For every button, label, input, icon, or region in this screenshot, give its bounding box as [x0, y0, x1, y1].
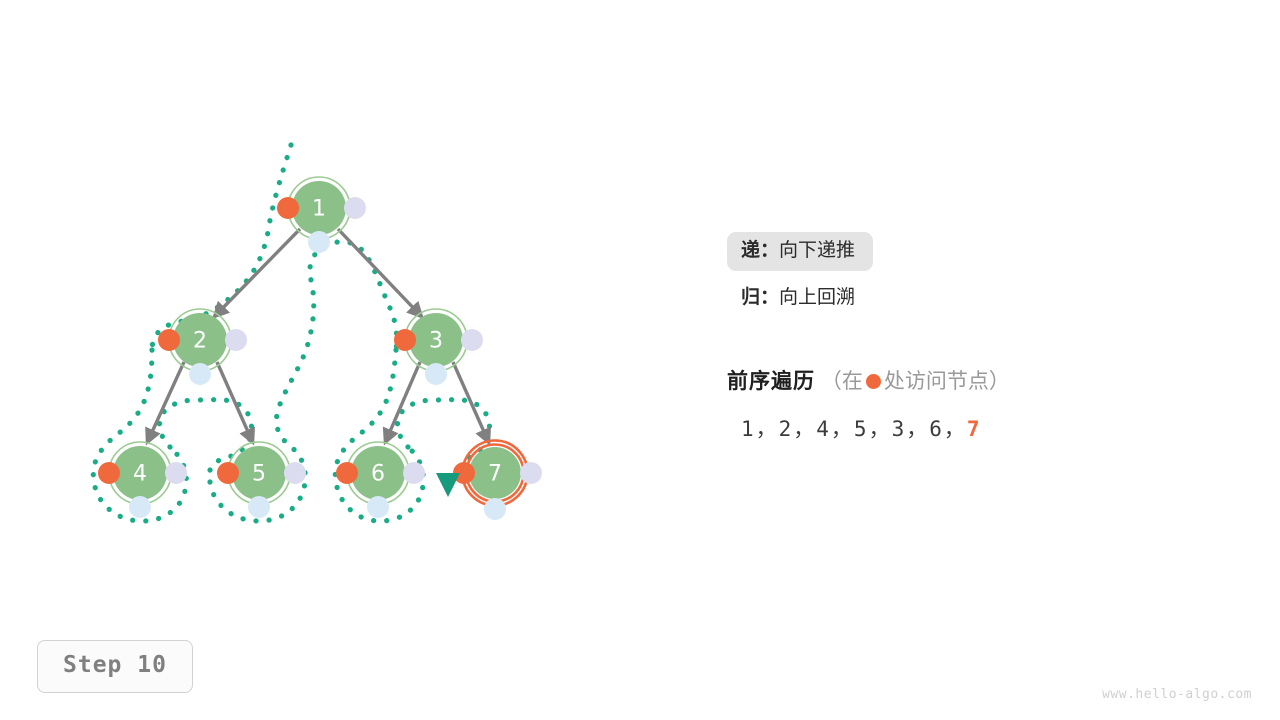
postorder-dot	[367, 496, 389, 518]
node-value: 6	[371, 462, 385, 487]
inorder-dot	[225, 329, 247, 351]
current-position-pointer-icon	[436, 473, 460, 497]
traversal-note-suffix: 处访问节点）	[884, 370, 1010, 393]
inorder-dot	[344, 197, 366, 219]
node-value: 5	[252, 462, 266, 487]
edge-2-4	[147, 362, 184, 443]
node-value: 1	[312, 197, 326, 222]
tree-node-3[interactable]: 3	[394, 309, 483, 385]
inorder-dot	[403, 462, 425, 484]
inorder-dot	[284, 462, 306, 484]
node-value: 3	[429, 329, 443, 354]
preorder-dot	[98, 462, 120, 484]
tree-node-2[interactable]: 2	[158, 309, 247, 385]
preorder-dot	[336, 462, 358, 484]
edge-1-3	[338, 229, 422, 317]
legend-recurse-key: 递：	[741, 240, 779, 261]
legend-row-recurse: 递：向下递推	[727, 232, 1227, 271]
traversal-sequence: 1，2，4，5，3，6，7	[741, 413, 982, 443]
postorder-dot	[129, 496, 151, 518]
path-root-entry	[152, 145, 291, 350]
node-value: 7	[488, 462, 502, 487]
edge-3-7	[453, 362, 489, 443]
postorder-dot	[189, 363, 211, 385]
traversal-title-row: 前序遍历 （在处访问节点）	[727, 365, 1010, 395]
legend-backtrack-key: 归：	[741, 287, 779, 308]
watermark: www.hello-algo.com	[1102, 687, 1252, 702]
preorder-dot	[217, 462, 239, 484]
node-value: 4	[133, 462, 147, 487]
sequence-current: 7	[967, 417, 982, 441]
traversal-note-prefix: （在	[821, 370, 863, 393]
preorder-dot	[158, 329, 180, 351]
inorder-dot	[165, 462, 187, 484]
edge-1-2	[214, 229, 300, 317]
traversal-title: 前序遍历	[727, 370, 815, 393]
postorder-dot	[425, 363, 447, 385]
legend-chip-recurse: 递：向下递推	[727, 232, 873, 271]
legend-recurse-value: 向下递推	[779, 240, 855, 261]
legend-row-backtrack: 归：向上回溯	[727, 279, 1227, 318]
postorder-dot	[308, 231, 330, 253]
postorder-dot	[484, 498, 506, 520]
preorder-dot	[394, 329, 416, 351]
postorder-dot	[248, 496, 270, 518]
legend-panel: 递：向下递推 归：向上回溯 前序遍历 （在处访问节点） 1，2，4，5，3，6，…	[727, 232, 1227, 326]
node-value: 2	[193, 329, 207, 354]
inorder-dot	[520, 462, 542, 484]
legend-chip-backtrack: 归：向上回溯	[727, 279, 873, 318]
preorder-dot	[277, 197, 299, 219]
binary-tree-diagram: 1 2 3 4	[0, 0, 1280, 720]
edge-2-5	[217, 362, 253, 443]
step-badge: Step 10	[37, 640, 193, 693]
sequence-visited: 1，2，4，5，3，6，	[741, 417, 967, 441]
legend-backtrack-value: 向上回溯	[779, 287, 855, 308]
tree-node-7[interactable]: 7	[453, 441, 542, 521]
tree-node-1[interactable]: 1	[277, 177, 366, 253]
preorder-legend-dot-icon	[866, 374, 881, 389]
illustration-canvas: 1 2 3 4	[0, 0, 1280, 720]
tree-node-4[interactable]: 4	[98, 442, 187, 518]
inorder-dot	[461, 329, 483, 351]
